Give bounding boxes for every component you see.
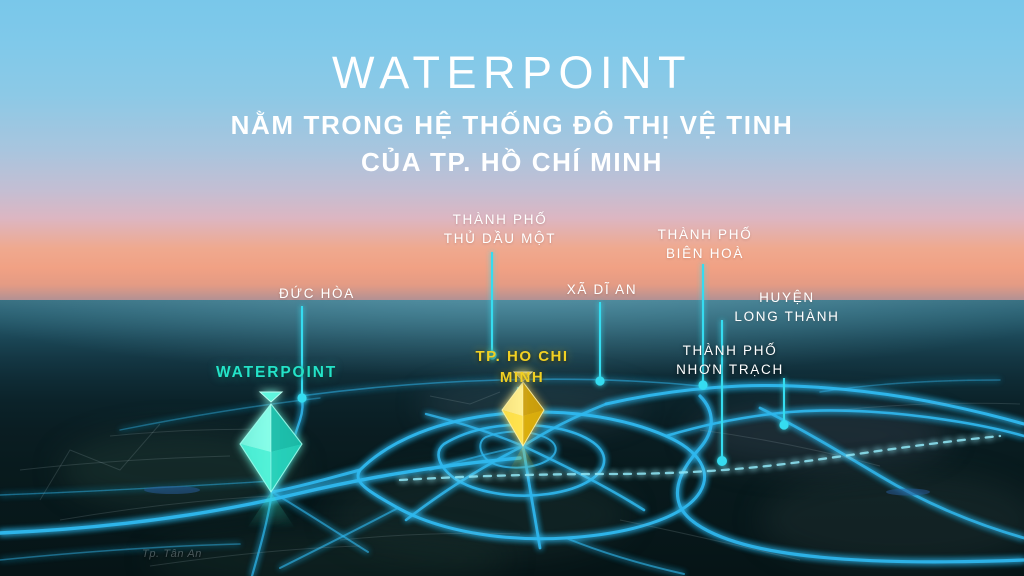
- label-bien-hoa[interactable]: THÀNH PHỐ BIÊN HOÀ: [649, 225, 761, 263]
- label-tp-ho-chi-minh[interactable]: TP. HO CHI MINH: [452, 346, 592, 389]
- map-scene: Tp. Tân An WATERPOINT NẰM TRONG HỆ THỐNG…: [0, 0, 1024, 576]
- label-duc-hoa[interactable]: ĐỨC HÒA: [272, 284, 362, 303]
- marker-waterpoint[interactable]: [240, 392, 302, 528]
- title-block: WATERPOINT NẰM TRONG HỆ THỐNG ĐÔ THỊ VỆ …: [0, 0, 1024, 179]
- label-nhon-trach[interactable]: THÀNH PHỐ NHƠN TRẠCH: [672, 341, 788, 379]
- page-title: WATERPOINT: [0, 50, 1024, 95]
- label-xa-di-an[interactable]: XÃ DĨ AN: [560, 280, 644, 299]
- label-long-thanh[interactable]: HUYỆN LONG THÀNH: [734, 288, 840, 326]
- page-subtitle-line2: CỦA TP. HỒ CHÍ MINH: [0, 145, 1024, 180]
- page-subtitle-line1: NẰM TRONG HỆ THỐNG ĐÔ THỊ VỆ TINH: [0, 108, 1024, 143]
- label-waterpoint[interactable]: WATERPOINT: [216, 362, 336, 384]
- label-thu-dau-mot[interactable]: THÀNH PHỐ THỦ DẦU MỘT: [440, 210, 560, 248]
